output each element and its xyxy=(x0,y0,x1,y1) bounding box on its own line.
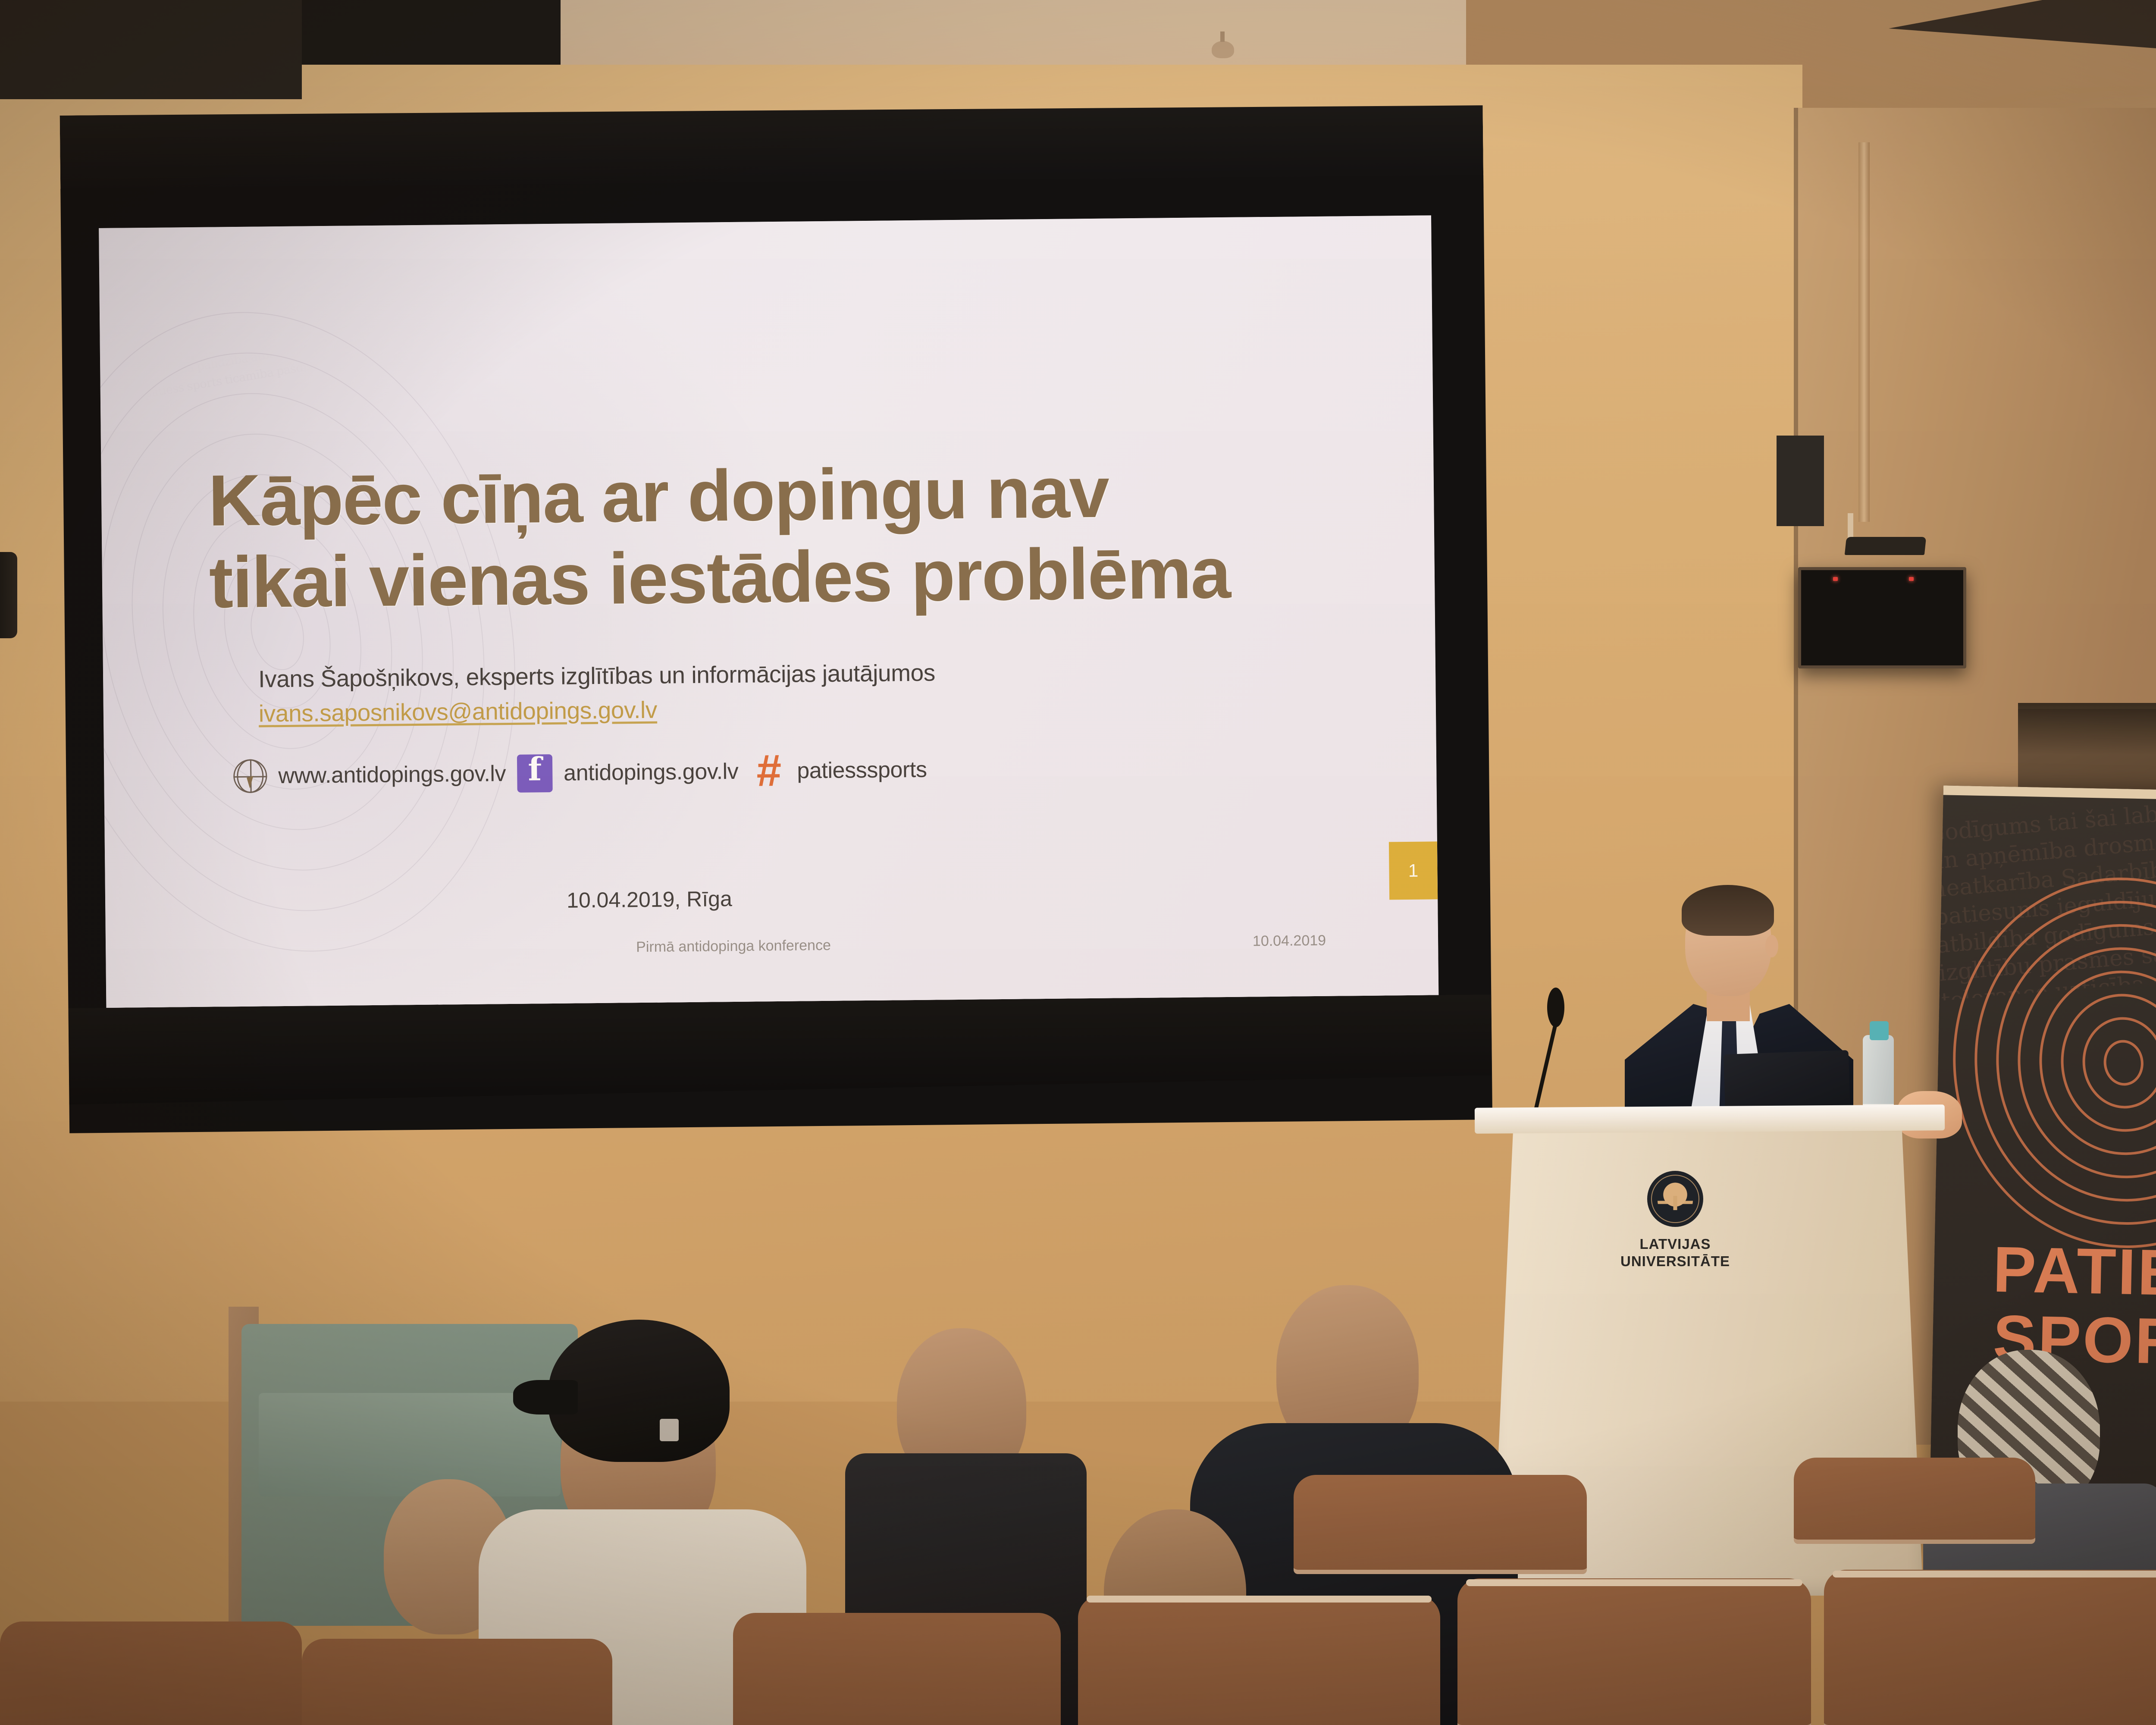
slide-background-words: Godīgums tai šai labsajūta komanda un ap… xyxy=(99,276,551,975)
presentation-slide: Godīgums tai šai labsajūta komanda un ap… xyxy=(99,215,1439,1052)
auditorium-seat[interactable] xyxy=(1457,1578,1811,1725)
slide-hashtag-label[interactable]: patiesssports xyxy=(797,757,927,784)
lecture-hall-photo: Godīgums tai šai labsajūta komanda un ap… xyxy=(0,0,2156,1725)
slide-number-badge: 1 xyxy=(1389,841,1438,900)
slide-footer: Pirmā antidopinga konference 10.04.2019 xyxy=(636,932,1326,956)
upper-left-dark-panel xyxy=(0,0,302,99)
globe-icon xyxy=(233,759,267,793)
auditorium-seat[interactable] xyxy=(302,1639,612,1725)
auditorium-seat[interactable] xyxy=(733,1613,1061,1725)
wall-monitor[interactable] xyxy=(1798,567,1966,668)
seat-rim xyxy=(1833,1571,2156,1578)
slide-title-line-1: Kāpēc cīņa ar dopingu nav xyxy=(208,449,1373,542)
auditorium-seat[interactable] xyxy=(1794,1458,2035,1544)
water-bottle-cap xyxy=(1870,1021,1889,1040)
hashtag-icon: # xyxy=(749,752,786,790)
slide-website-label[interactable]: www.antidopings.gov.lv xyxy=(278,761,506,789)
facebook-icon: f xyxy=(517,754,553,793)
microphone-head-icon xyxy=(1547,988,1564,1027)
auditorium-seat[interactable] xyxy=(1294,1475,1587,1574)
slide-footer-date: 10.04.2019 xyxy=(1253,932,1326,950)
institution-line-2: UNIVERSITĀTE xyxy=(1604,1253,1746,1270)
screen-surface: Godīgums tai šai labsajūta komanda un ap… xyxy=(99,215,1439,1052)
wall-niche-shadow xyxy=(2018,703,2156,755)
banner-title-line-1: PATIESS xyxy=(1934,1234,2156,1310)
seat-rim xyxy=(1087,1596,1432,1603)
auditorium-seat[interactable] xyxy=(1078,1596,1440,1725)
auditorium-seat[interactable] xyxy=(1824,1570,2156,1725)
screen-frame: Godīgums tai šai labsajūta komanda un ap… xyxy=(60,175,1492,1133)
vent-icon xyxy=(1777,436,1824,526)
slide-email-link[interactable]: ivans.saposnikovs@antidopings.gov.lv xyxy=(259,693,658,731)
projection-screen[interactable]: Godīgums tai šai labsajūta komanda un ap… xyxy=(60,102,1493,1147)
slide-footer-conference: Pirmā antidopinga konference xyxy=(636,937,831,956)
presenter-hair xyxy=(1682,885,1774,936)
ceiling-sensor-icon xyxy=(1212,41,1234,58)
slide-facebook-label[interactable]: antidopings.gov.lv xyxy=(564,759,739,786)
cap-logo-icon xyxy=(660,1419,679,1441)
cap-brim xyxy=(513,1380,578,1414)
institution-line-1: LATVIJAS xyxy=(1604,1236,1746,1253)
slide-fingerprint-motif: Godīgums tai šai labsajūta komanda un ap… xyxy=(99,241,551,1022)
sofa-cushion xyxy=(259,1393,561,1496)
slide-date-place: 10.04.2019, Rīga xyxy=(567,886,732,913)
auditorium-seat[interactable] xyxy=(0,1621,302,1725)
seat-rim xyxy=(1466,1579,1802,1586)
presenter-ear xyxy=(1765,935,1778,957)
latvijas-universitate-seal-icon xyxy=(1647,1171,1703,1227)
monitor-mount-arm xyxy=(1845,537,1926,555)
speaker-icon-left xyxy=(0,552,17,638)
lectern-institution-label: LATVIJAS UNIVERSITĀTE xyxy=(1604,1236,1746,1270)
wall-pipe xyxy=(1858,142,1870,522)
banner-fingerprint-motif xyxy=(1943,872,2156,1254)
monitor-led-icon xyxy=(1833,577,1838,581)
slide-title: Kāpēc cīņa ar dopingu nav tikai vienas i… xyxy=(208,449,1374,624)
monitor-led-icon xyxy=(1909,577,1914,581)
lectern-top-surface xyxy=(1475,1104,1945,1134)
slide-title-line-2: tikai vienas iestādes problēma xyxy=(209,531,1374,624)
slide-author-block: Ivans Šapošņikovs, eksperts izglītības u… xyxy=(258,652,1294,731)
